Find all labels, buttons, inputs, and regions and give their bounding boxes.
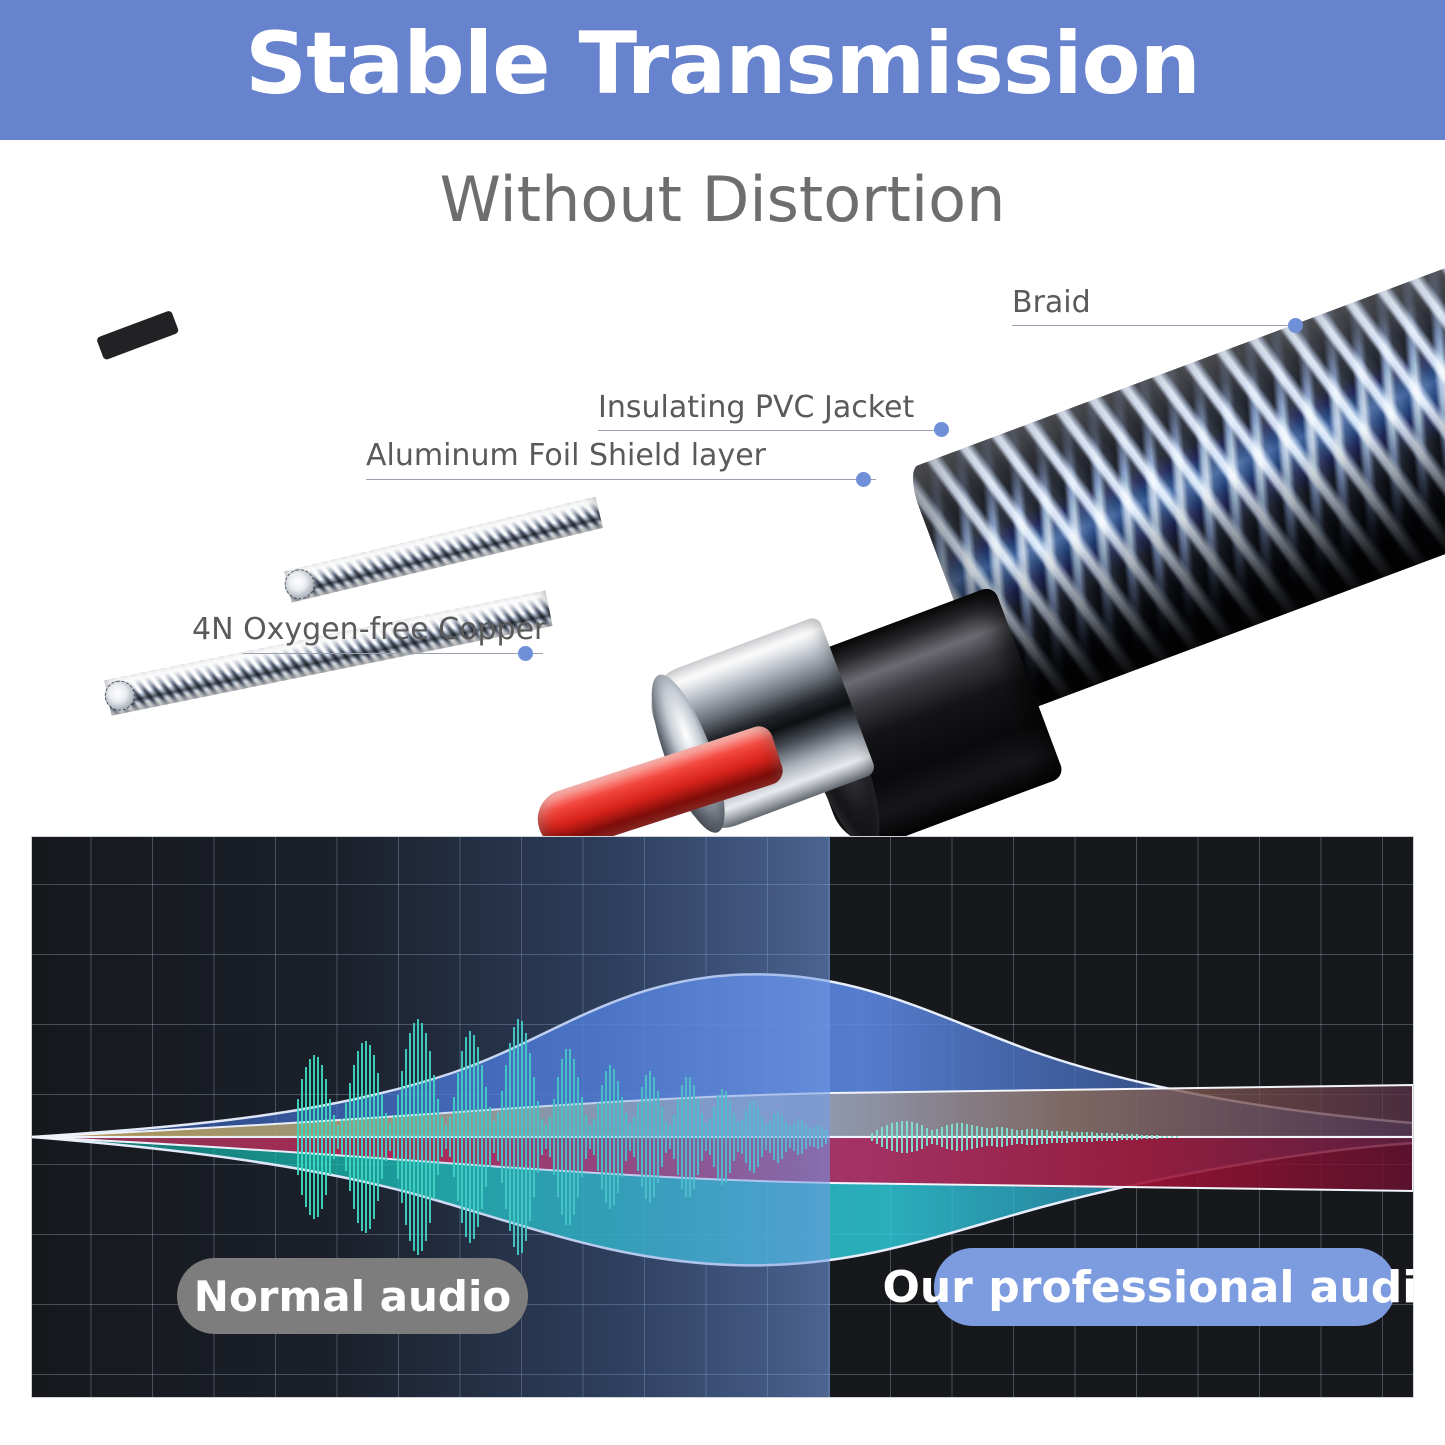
callout-braid-leader-line [1012,325,1302,326]
callout-copper-label: 4N Oxygen-free Copper [192,615,546,645]
callout-copper-leader-line [243,653,543,654]
callout-braid-label: Braid [1012,288,1091,318]
callout-foil-shield-label: Aluminum Foil Shield layer [366,441,766,471]
professional-audio-label: Our professional audio [934,1248,1396,1326]
foil-shield-cut-gap [96,310,179,360]
callout-foil-shield-leader-line [366,479,876,480]
normal-audio-label: Normal audio [177,1258,528,1334]
page-subtitle: Without Distortion [0,160,1445,241]
cable-cutaway-figure: Braid Insulating PVC Jacket Aluminum Foi… [0,230,1445,790]
callout-foil-shield-anchor-dot [856,472,871,487]
callout-copper-anchor-dot [518,646,533,661]
callout-pvc-jacket-anchor-dot [934,422,949,437]
copper-wire-upper-tip [282,566,318,602]
page-title: Stable Transmission [0,6,1445,122]
callout-pvc-jacket-leader-line [598,430,948,431]
callout-pvc-jacket-label: Insulating PVC Jacket [598,393,914,423]
copper-wire-lower-tip [102,678,137,713]
copper-wire-upper [284,497,603,603]
callout-braid-anchor-dot [1288,318,1303,333]
